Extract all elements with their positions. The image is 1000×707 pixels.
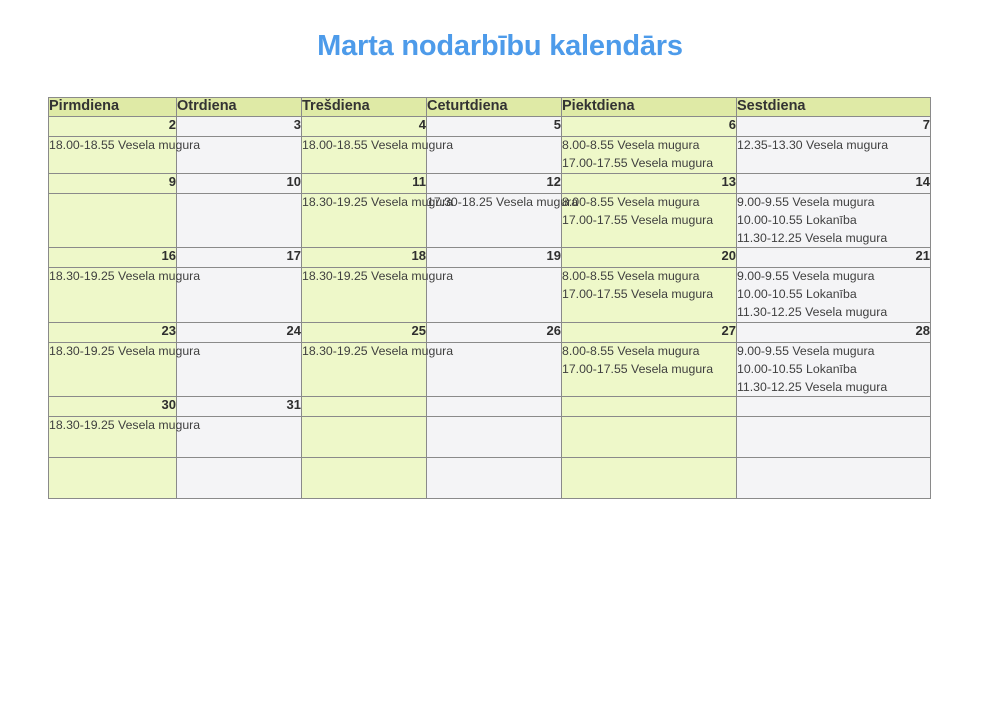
date-cell-sestdiena[interactable]: 7 (737, 117, 931, 137)
event-cell-sestdiena[interactable]: 9.00-9.55 Vesela mugura10.00-10.55 Lokan… (737, 342, 931, 396)
weekday-header-row: Pirmdiena Otrdiena Trešdiena Ceturtdiena… (49, 98, 931, 117)
event-entry: 8.00-8.55 Vesela mugura (562, 343, 736, 361)
week-date-row: 234567 (49, 117, 931, 137)
date-cell-tresdiena[interactable]: 25 (302, 322, 427, 342)
calendar-table: Pirmdiena Otrdiena Trešdiena Ceturtdiena… (48, 97, 931, 499)
date-cell-piektdiena[interactable]: 27 (562, 322, 737, 342)
date-cell-piektdiena[interactable]: 20 (562, 248, 737, 268)
event-entry: 10.00-10.55 Lokanība (737, 286, 930, 304)
date-cell-pirmdiena[interactable]: 9 (49, 174, 177, 194)
event-cell-pirmdiena[interactable] (49, 194, 177, 248)
event-entry: 17.30-18.25 Vesela mugura (427, 194, 561, 212)
date-cell-otrdiena[interactable]: 3 (177, 117, 302, 137)
event-cell-ceturtdiena[interactable] (427, 458, 562, 499)
event-entry: 9.00-9.55 Vesela mugura (737, 194, 930, 212)
event-entry: 18.30-19.25 Vesela mugura (49, 417, 176, 435)
date-cell-piektdiena[interactable]: 13 (562, 174, 737, 194)
weekday-header-pirmdiena: Pirmdiena (49, 98, 177, 117)
event-entry: 8.00-8.55 Vesela mugura (562, 137, 736, 155)
date-cell-tresdiena[interactable]: 18 (302, 248, 427, 268)
event-entry: 11.30-12.25 Vesela mugura (737, 230, 930, 248)
calendar-body: 23456718.00-18.55 Vesela mugura18.00-18.… (49, 117, 931, 499)
week-date-row: 91011121314 (49, 174, 931, 194)
event-cell-sestdiena[interactable]: 9.00-9.55 Vesela mugura10.00-10.55 Lokan… (737, 268, 931, 322)
event-entry: 12.35-13.30 Vesela mugura (737, 137, 930, 155)
week-date-row: 161718192021 (49, 248, 931, 268)
event-cell-tresdiena[interactable] (302, 458, 427, 499)
event-cell-piektdiena[interactable]: 8.00-8.55 Vesela mugura17.00-17.55 Vesel… (562, 342, 737, 396)
event-cell-tresdiena[interactable] (302, 417, 427, 458)
page-title: Marta nodarbību kalendārs (0, 30, 1000, 63)
date-cell-ceturtdiena[interactable]: 5 (427, 117, 562, 137)
event-cell-pirmdiena[interactable]: 18.30-19.25 Vesela mugura (49, 342, 177, 396)
event-entry: 9.00-9.55 Vesela mugura (737, 343, 930, 361)
date-cell-ceturtdiena[interactable]: 19 (427, 248, 562, 268)
event-cell-piektdiena[interactable] (562, 458, 737, 499)
event-cell-tresdiena[interactable]: 18.00-18.55 Vesela mugura (302, 137, 427, 174)
date-cell-otrdiena[interactable]: 10 (177, 174, 302, 194)
event-entry: 10.00-10.55 Lokanība (737, 212, 930, 230)
weekday-header-ceturtdiena: Ceturtdiena (427, 98, 562, 117)
event-entry: 18.00-18.55 Vesela mugura (302, 137, 426, 155)
event-cell-otrdiena[interactable] (177, 458, 302, 499)
date-cell-sestdiena[interactable] (737, 397, 931, 417)
calendar-header: Pirmdiena Otrdiena Trešdiena Ceturtdiena… (49, 98, 931, 117)
week-event-row: 18.30-19.25 Vesela mugura18.30-19.25 Ves… (49, 342, 931, 396)
event-entry: 18.00-18.55 Vesela mugura (49, 137, 176, 155)
date-cell-tresdiena[interactable]: 4 (302, 117, 427, 137)
event-cell-pirmdiena[interactable] (49, 458, 177, 499)
event-cell-pirmdiena[interactable]: 18.00-18.55 Vesela mugura (49, 137, 177, 174)
date-cell-ceturtdiena[interactable] (427, 397, 562, 417)
date-cell-tresdiena[interactable] (302, 397, 427, 417)
date-cell-piektdiena[interactable]: 6 (562, 117, 737, 137)
date-cell-otrdiena[interactable]: 17 (177, 248, 302, 268)
date-cell-ceturtdiena[interactable]: 26 (427, 322, 562, 342)
calendar-container: Pirmdiena Otrdiena Trešdiena Ceturtdiena… (48, 97, 930, 499)
event-entry: 18.30-19.25 Vesela mugura (49, 343, 176, 361)
event-entry: 8.00-8.55 Vesela mugura (562, 268, 736, 286)
event-cell-piektdiena[interactable]: 8.00-8.55 Vesela mugura17.00-17.55 Vesel… (562, 194, 737, 248)
date-cell-otrdiena[interactable]: 31 (177, 397, 302, 417)
event-cell-tresdiena[interactable]: 18.30-19.25 Vesela mugura (302, 342, 427, 396)
event-entry: 17.00-17.55 Vesela mugura (562, 212, 736, 230)
weekday-header-sestdiena: Sestdiena (737, 98, 931, 117)
event-entry: 18.30-19.25 Vesela mugura (302, 343, 426, 361)
event-cell-tresdiena[interactable]: 18.30-19.25 Vesela mugura (302, 194, 427, 248)
event-cell-pirmdiena[interactable]: 18.30-19.25 Vesela mugura (49, 268, 177, 322)
event-cell-sestdiena[interactable] (737, 458, 931, 499)
date-cell-sestdiena[interactable]: 28 (737, 322, 931, 342)
weekday-header-piektdiena: Piektdiena (562, 98, 737, 117)
event-entry: 18.30-19.25 Vesela mugura (49, 268, 176, 286)
event-cell-piektdiena[interactable]: 8.00-8.55 Vesela mugura17.00-17.55 Vesel… (562, 137, 737, 174)
date-cell-otrdiena[interactable]: 24 (177, 322, 302, 342)
week-date-row: 232425262728 (49, 322, 931, 342)
date-cell-pirmdiena[interactable]: 2 (49, 117, 177, 137)
event-entry: 17.00-17.55 Vesela mugura (562, 286, 736, 304)
event-entry: 18.30-19.25 Vesela mugura (302, 194, 426, 212)
event-entry: 10.00-10.55 Lokanība (737, 361, 930, 379)
event-entry: 17.00-17.55 Vesela mugura (562, 361, 736, 379)
event-entry: 11.30-12.25 Vesela mugura (737, 304, 930, 322)
event-cell-sestdiena[interactable]: 12.35-13.30 Vesela mugura (737, 137, 931, 174)
week-event-row (49, 458, 931, 499)
calendar-page: Marta nodarbību kalendārs Pirmdiena Otrd… (0, 0, 1000, 707)
event-cell-otrdiena[interactable] (177, 194, 302, 248)
date-cell-ceturtdiena[interactable]: 12 (427, 174, 562, 194)
date-cell-pirmdiena[interactable]: 30 (49, 397, 177, 417)
event-cell-piektdiena[interactable] (562, 417, 737, 458)
weekday-header-otrdiena: Otrdiena (177, 98, 302, 117)
event-entry: 18.30-19.25 Vesela mugura (302, 268, 426, 286)
weekday-header-tresdiena: Trešdiena (302, 98, 427, 117)
event-cell-sestdiena[interactable] (737, 417, 931, 458)
date-cell-pirmdiena[interactable]: 23 (49, 322, 177, 342)
event-entry: 11.30-12.25 Vesela mugura (737, 379, 930, 397)
date-cell-tresdiena[interactable]: 11 (302, 174, 427, 194)
date-cell-pirmdiena[interactable]: 16 (49, 248, 177, 268)
date-cell-sestdiena[interactable]: 21 (737, 248, 931, 268)
event-cell-ceturtdiena[interactable] (427, 417, 562, 458)
event-cell-pirmdiena[interactable]: 18.30-19.25 Vesela mugura (49, 417, 177, 458)
date-cell-sestdiena[interactable]: 14 (737, 174, 931, 194)
event-entry: 17.00-17.55 Vesela mugura (562, 155, 736, 173)
date-cell-piektdiena[interactable] (562, 397, 737, 417)
week-event-row: 18.00-18.55 Vesela mugura18.00-18.55 Ves… (49, 137, 931, 174)
week-event-row: 18.30-19.25 Vesela mugura18.30-19.25 Ves… (49, 268, 931, 322)
week-event-row: 18.30-19.25 Vesela mugura17.30-18.25 Ves… (49, 194, 931, 248)
event-cell-piektdiena[interactable]: 8.00-8.55 Vesela mugura17.00-17.55 Vesel… (562, 268, 737, 322)
event-cell-ceturtdiena[interactable]: 17.30-18.25 Vesela mugura (427, 194, 562, 248)
event-cell-tresdiena[interactable]: 18.30-19.25 Vesela mugura (302, 268, 427, 322)
event-cell-sestdiena[interactable]: 9.00-9.55 Vesela mugura10.00-10.55 Lokan… (737, 194, 931, 248)
event-entry: 8.00-8.55 Vesela mugura (562, 194, 736, 212)
week-date-row: 3031 (49, 397, 931, 417)
event-entry: 9.00-9.55 Vesela mugura (737, 268, 930, 286)
week-event-row: 18.30-19.25 Vesela mugura (49, 417, 931, 458)
